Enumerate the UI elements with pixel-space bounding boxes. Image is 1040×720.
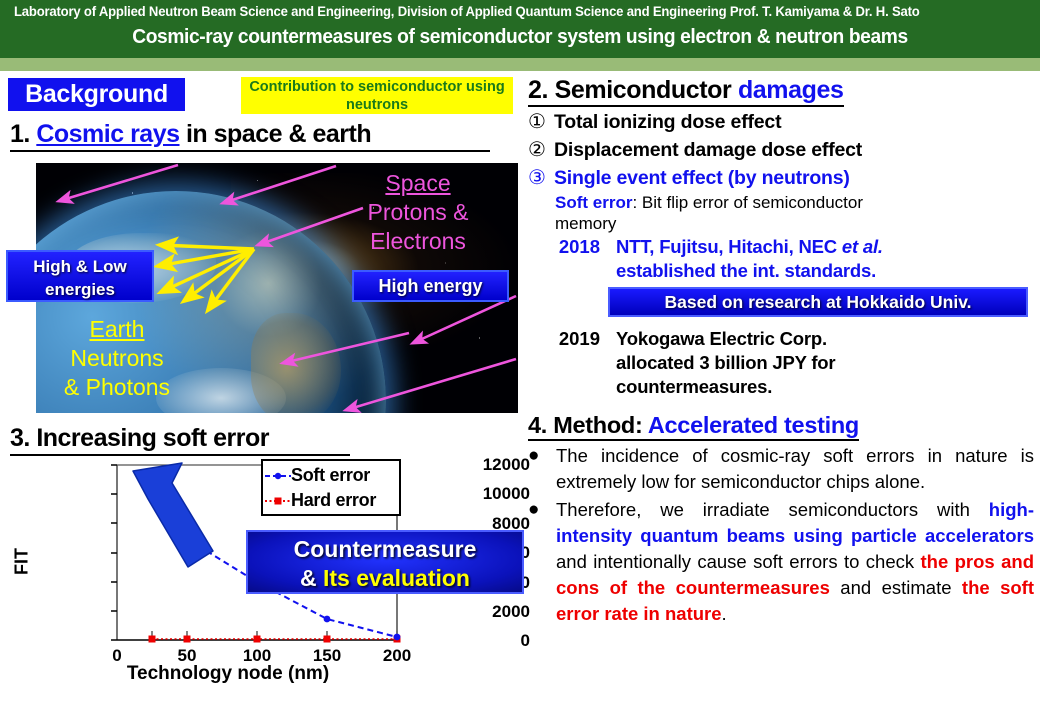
milestone-2018-line2: established the int. standards. xyxy=(616,260,876,281)
milestone-2019-line3: countermeasures. xyxy=(616,376,772,397)
countermeasure-line1: Countermeasure xyxy=(248,535,522,563)
b2-e: and estimate xyxy=(830,577,962,598)
milestone-2018-line1: NTT, Fujitsu, Hitachi, NEC xyxy=(616,236,842,257)
y-tick-12000: 12000 xyxy=(434,455,530,475)
countermeasure-line2: & Its evaluation xyxy=(248,563,522,593)
milestone-2018-etal: et al. xyxy=(842,236,883,257)
method-bullet-1: ● The incidence of cosmic-ray soft error… xyxy=(528,443,1036,495)
countermeasure-callout: Countermeasure & Its evaluation xyxy=(246,530,524,594)
section2-title-black: Semiconductor xyxy=(555,76,738,104)
legend-marker-hard-error xyxy=(265,493,291,509)
space-sublabel-2: Electrons xyxy=(328,227,508,256)
badge-high-low-line2: energies xyxy=(8,278,152,301)
damage-marker-2: ② xyxy=(528,137,554,163)
x-axis-label: Technology node (nm) xyxy=(28,663,428,685)
y-axis-label: FIT xyxy=(12,532,33,592)
countermeasure-amp: & xyxy=(300,565,323,591)
legend-label-soft-error: Soft error xyxy=(291,465,370,486)
y-tick-2000: 2000 xyxy=(434,602,530,622)
milestone-2018-year: 2018 xyxy=(528,235,616,283)
right-column: 2. Semiconductor damages ① Total ionizin… xyxy=(528,76,1036,627)
damage-marker-3: ③ xyxy=(528,165,554,191)
earth-label: Earth xyxy=(45,315,189,344)
b2-c: and intentionally cause soft errors to c… xyxy=(556,551,921,572)
chart-legend: Soft error Hard error xyxy=(261,459,401,516)
section1-rest: in space & earth xyxy=(186,120,371,148)
section3-heading: 3. Increasing soft error xyxy=(10,424,350,456)
soft-error-definition: Soft error: Bit flip error of semiconduc… xyxy=(555,192,1007,213)
bullet-icon: ● xyxy=(528,443,556,495)
section2-heading: 2. Semiconductor damages xyxy=(528,76,844,107)
damage-text-3: Single event effect (by neutrons) xyxy=(554,165,850,191)
space-label: Space xyxy=(328,169,508,198)
section4-title-black: Method: xyxy=(553,412,648,438)
page-title: Cosmic-ray countermeasures of semiconduc… xyxy=(21,26,1019,49)
section1-heading: 1. Cosmic rays in space & earth xyxy=(10,120,490,152)
contribution-callout: Contribution to semiconductor using neut… xyxy=(241,77,513,114)
section1-highlight: Cosmic rays xyxy=(36,120,179,148)
damage-marker-1: ① xyxy=(528,109,554,135)
legend-label-hard-error: Hard error xyxy=(291,490,376,511)
section2-number: 2. xyxy=(528,76,548,104)
legend-marker-soft-error xyxy=(265,468,291,484)
earth-sublabel-2: & Photons xyxy=(45,373,189,402)
earth-sublabel-1: Neutrons xyxy=(45,344,189,373)
damage-item-3: ③ Single event effect (by neutrons) xyxy=(528,165,1036,191)
method-bullet-2-text: Therefore, we irradiate semiconductors w… xyxy=(556,497,1034,627)
milestone-2019-line1: Yokogawa Electric Corp. xyxy=(616,328,827,349)
section4-heading: 4. Method: Accelerated testing xyxy=(528,412,859,441)
milestone-2018: 2018 NTT, Fujitsu, Hitachi, NEC et al. e… xyxy=(528,235,1036,283)
milestone-2019-year: 2019 xyxy=(528,327,616,399)
section1-number: 1. xyxy=(10,120,30,148)
y-tick-0: 0 xyxy=(434,631,530,651)
header-underbar xyxy=(0,58,1040,71)
space-word: Space xyxy=(385,170,450,196)
bullet-icon: ● xyxy=(528,497,556,627)
soft-error-term: Soft error xyxy=(555,193,632,212)
damage-item-2: ② Displacement damage dose effect xyxy=(528,137,1036,163)
milestone-2019-body: Yokogawa Electric Corp. allocated 3 bill… xyxy=(616,327,835,399)
header-affiliation: Laboratory of Applied Neutron Beam Scien… xyxy=(14,4,996,19)
damage-text-2: Displacement damage dose effect xyxy=(554,137,862,163)
earth-word: Earth xyxy=(90,316,145,342)
section4-number: 4. xyxy=(528,412,547,438)
milestone-2019: 2019 Yokogawa Electric Corp. allocated 3… xyxy=(528,327,1036,399)
trend-arrow-icon xyxy=(133,463,213,567)
damage-text-1: Total ionizing dose effect xyxy=(554,109,781,135)
b2-a: Therefore, we irradiate semiconductors w… xyxy=(556,499,989,520)
legend-item-soft-error: Soft error xyxy=(265,463,399,488)
soft-error-definition-cont: memory xyxy=(555,213,1036,234)
badge-high-low-energies: High & Low energies xyxy=(6,250,154,302)
milestone-2019-line2: allocated 3 billion JPY for xyxy=(616,352,835,373)
b2-g: . xyxy=(722,603,727,624)
section3-title: Increasing soft error xyxy=(36,424,269,452)
space-sublabel-1: Protons & xyxy=(328,198,508,227)
legend-item-hard-error: Hard error xyxy=(265,488,399,513)
section2-title-blue: damages xyxy=(738,76,844,104)
badge-high-low-line1: High & Low xyxy=(8,255,152,278)
section4-title-blue: Accelerated testing xyxy=(648,412,859,438)
milestone-2018-body: NTT, Fujitsu, Hitachi, NEC et al. establ… xyxy=(616,235,883,283)
method-bullet-2: ● Therefore, we irradiate semiconductors… xyxy=(528,497,1036,627)
hokkaido-badge: Based on research at Hokkaido Univ. xyxy=(608,287,1028,317)
method-bullet-1-text: The incidence of cosmic-ray soft errors … xyxy=(556,443,1034,495)
damage-item-1: ① Total ionizing dose effect xyxy=(528,109,1036,135)
badge-high-energy: High energy xyxy=(352,270,509,302)
countermeasure-highlight: Its evaluation xyxy=(323,565,470,591)
section3-number: 3. xyxy=(10,424,30,452)
soft-error-desc: : Bit flip error of semiconductor xyxy=(632,193,863,212)
y-tick-10000: 10000 xyxy=(434,484,530,504)
background-tag: Background xyxy=(8,78,185,111)
